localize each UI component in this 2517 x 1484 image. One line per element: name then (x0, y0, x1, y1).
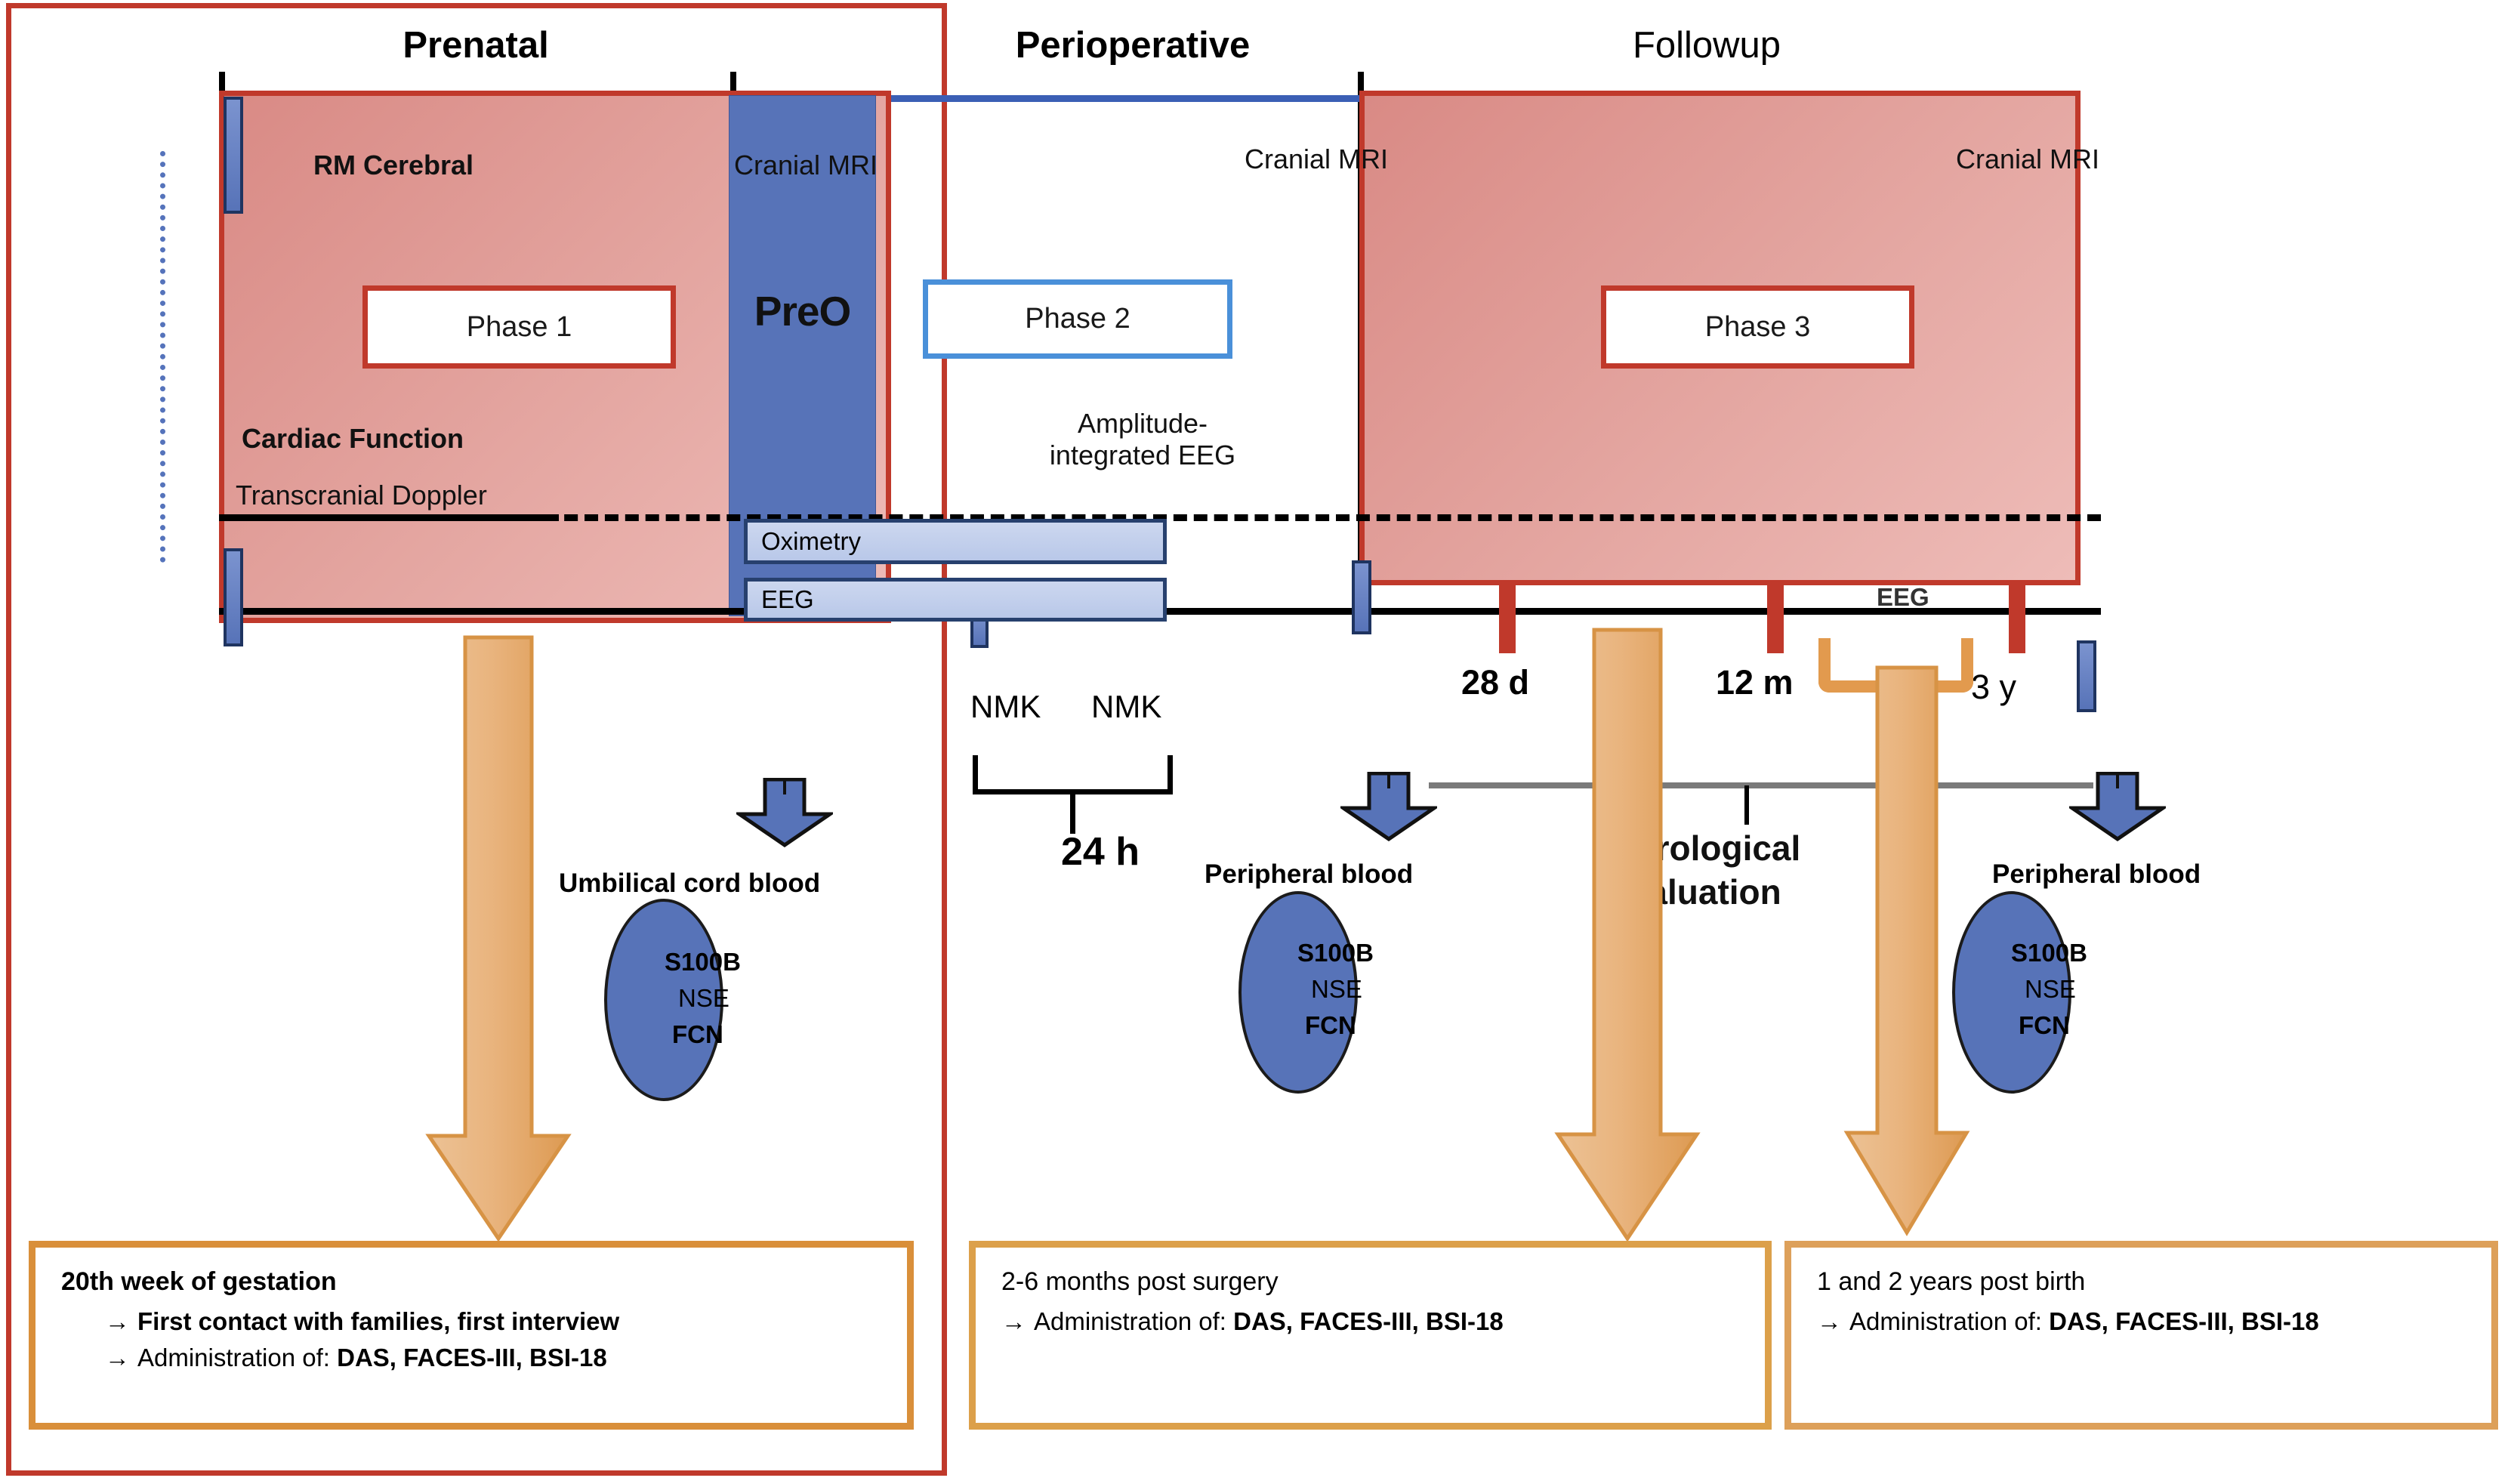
perioperative-top-rule (891, 95, 1363, 102)
info-box-postbirth: 1 and 2 years post birth →Administration… (1784, 1241, 2498, 1430)
phase-2-box: Phase 2 (923, 279, 1232, 359)
label-umbilical-cord-blood: Umbilical cord blood (559, 868, 820, 899)
info-box-3-line-1: →Administration of: DAS, FACES-III, BSI-… (1817, 1307, 2469, 1336)
label-eeg-followup: EEG (1877, 583, 1929, 612)
biomarker-fcn: FCN (1297, 1007, 1374, 1044)
preo-label: PreO (729, 287, 876, 335)
biomarker-list-peripheral-1: S100B NSE FCN (1297, 935, 1374, 1044)
neuro-evaluation-connector-stem (1744, 785, 1749, 825)
biomarker-list-umbilical: S100B NSE FCN (665, 944, 741, 1053)
timepoint-label-12m: 12 m (1716, 663, 1794, 702)
navy-marker-postop (1352, 560, 1371, 634)
aeeg-line-2: integrated EEG (1018, 440, 1267, 471)
timepoint-tick-3y (2009, 582, 2025, 653)
arrow-right-icon: → (1001, 1307, 1026, 1335)
header-prenatal: Prenatal (272, 24, 680, 66)
navy-marker-start-top (224, 97, 243, 214)
info-box-2-line-1-bold: DAS, FACES-III, BSI-18 (1233, 1307, 1504, 1335)
label-transcranial-doppler: Transcranial Doppler (236, 480, 487, 511)
down-arrow-icon-peripheral-1 (1340, 772, 1437, 841)
biomarker-s100b: S100B (665, 944, 741, 980)
biomarker-s100b: S100B (1297, 935, 1374, 971)
timepoint-tick-28d (1499, 582, 1516, 653)
arrow-right-icon: → (1817, 1307, 1842, 1335)
biomarker-fcn: FCN (665, 1017, 741, 1053)
info-box-2-title: 2-6 months post surgery (1001, 1267, 1742, 1297)
arrow-right-icon: → (105, 1307, 130, 1335)
biomarker-nse: NSE (2011, 971, 2087, 1007)
info-box-3-title: 1 and 2 years post birth (1817, 1267, 2469, 1297)
monitoring-bar-eeg: EEG (744, 578, 1167, 622)
navy-marker-start-bottom (224, 548, 243, 646)
neuro-evaluation-connector-line (1429, 782, 2093, 788)
info-box-2-line-1-text: Administration of: (1034, 1307, 1233, 1335)
label-amplitude-integrated-eeg: Amplitude- integrated EEG (1018, 408, 1267, 472)
navy-marker-end (2077, 640, 2096, 712)
label-rm-cerebral: RM Cerebral (313, 150, 473, 181)
header-perioperative: Perioperative (891, 24, 1374, 66)
phase-1-box: Phase 1 (362, 285, 676, 369)
info-box-prenatal: 20th week of gestation →First contact wi… (29, 1241, 914, 1430)
label-cranial-mri-preop: Cranial MRI (734, 150, 878, 181)
label-cranial-mri-postop: Cranial MRI (1245, 143, 1388, 175)
orange-down-arrow-3 (1843, 665, 1971, 1239)
study-timeline-diagram: Prenatal Perioperative Followup PreO RM … (0, 0, 2517, 1484)
down-arrow-icon-umbilical (736, 778, 833, 847)
aeeg-line-1: Amplitude- (1018, 408, 1267, 440)
label-peripheral-blood-1: Peripheral blood (1205, 859, 1413, 890)
timepoint-label-28d: 28 d (1461, 663, 1529, 702)
label-nmk-second: NMK (1091, 689, 1161, 725)
nmk-bracket (973, 755, 1173, 794)
info-box-3-line-1-bold: DAS, FACES-III, BSI-18 (2049, 1307, 2319, 1335)
label-cranial-mri-followup: Cranial MRI (1956, 143, 2099, 175)
label-cardiac-function: Cardiac Function (242, 423, 464, 455)
info-box-postsurgery: 2-6 months post surgery →Administration … (969, 1241, 1772, 1430)
label-24h: 24 h (1061, 829, 1140, 875)
info-box-1-line-1-text: First contact with families, first inter… (137, 1307, 619, 1335)
biomarker-s100b: S100B (2011, 935, 2087, 971)
info-box-1-title: 20th week of gestation (61, 1267, 884, 1297)
timepoint-tick-12m (1767, 582, 1784, 653)
dashed-line-solid-segment (219, 514, 559, 521)
header-followup: Followup (1473, 24, 1941, 66)
label-peripheral-blood-2: Peripheral blood (1992, 859, 2201, 890)
info-box-2-line-1: →Administration of: DAS, FACES-III, BSI-… (1001, 1307, 1742, 1336)
info-box-3-line-1-text: Administration of: (1849, 1307, 2049, 1335)
orange-down-arrow-2 (1552, 627, 1703, 1246)
label-nmk-first: NMK (970, 689, 1041, 725)
arrow-right-icon: → (105, 1344, 130, 1371)
biomarker-fcn: FCN (2011, 1007, 2087, 1044)
biomarker-nse: NSE (665, 980, 741, 1017)
info-box-1-line-1: →First contact with families, first inte… (61, 1307, 884, 1336)
nmk-bracket-stem (1070, 794, 1075, 834)
timepoint-label-3y: 3 y (1971, 668, 2016, 707)
phase-3-box: Phase 3 (1601, 285, 1914, 369)
info-box-1-line-2: →Administration of: DAS, FACES-III, BSI-… (61, 1344, 884, 1372)
biomarker-list-peripheral-2: S100B NSE FCN (2011, 935, 2087, 1044)
monitoring-bar-oximetry: Oximetry (744, 519, 1167, 564)
orange-down-arrow-1 (423, 634, 574, 1246)
info-box-1-line-2-bold: DAS, FACES-III, BSI-18 (337, 1344, 607, 1371)
info-box-1-line-2-text: Administration of: (137, 1344, 337, 1371)
dotted-guide-line (160, 151, 165, 563)
biomarker-nse: NSE (1297, 971, 1374, 1007)
